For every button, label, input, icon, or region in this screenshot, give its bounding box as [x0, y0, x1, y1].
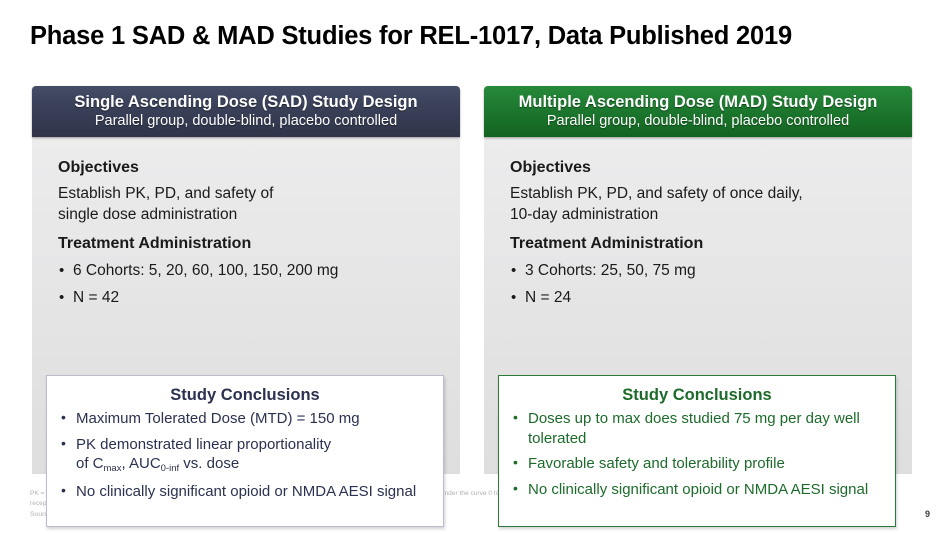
page-number: 9 [925, 509, 930, 519]
panel-sad-header-subtitle: Parallel group, double-blind, placebo co… [95, 112, 397, 130]
panel-sad-body: Objectives Establish PK, PD, and safety … [32, 137, 460, 474]
mad-objectives-text: Establish PK, PD, and safety of once dai… [510, 183, 894, 225]
sad-conclusions-title: Study Conclusions [59, 384, 431, 406]
panel-sad-header: Single Ascending Dose (SAD) Study Design… [32, 86, 460, 137]
panel-sad-header-title: Single Ascending Dose (SAD) Study Design [74, 93, 417, 112]
panel-mad-body: Objectives Establish PK, PD, and safety … [484, 137, 912, 474]
list-item: 6 Cohorts: 5, 20, 60, 100, 150, 200 mg [58, 260, 442, 281]
panel-mad-header-title: Multiple Ascending Dose (MAD) Study Desi… [519, 93, 878, 112]
panel-mad: Multiple Ascending Dose (MAD) Study Desi… [484, 86, 912, 474]
mad-objectives-section: Objectives Establish PK, PD, and safety … [510, 158, 894, 225]
list-item: N = 42 [58, 287, 442, 308]
list-item: Favorable safety and tolerability profil… [511, 454, 883, 474]
mad-conclusions-list: Doses up to max does studied 75 mg per d… [511, 409, 883, 499]
mad-treatment-list: 3 Cohorts: 25, 50, 75 mg N = 24 [510, 260, 894, 308]
mad-treatment-section: Treatment Administration 3 Cohorts: 25, … [510, 234, 894, 308]
sad-conclusions-list: Maximum Tolerated Dose (MTD) = 150 mg PK… [59, 409, 431, 501]
panel-sad: Single Ascending Dose (SAD) Study Design… [32, 86, 460, 474]
list-item: PK demonstrated linear proportionalityof… [59, 435, 431, 476]
list-item: Maximum Tolerated Dose (MTD) = 150 mg [59, 409, 431, 429]
list-item: 3 Cohorts: 25, 50, 75 mg [510, 260, 894, 281]
list-item: No clinically significant opioid or NMDA… [511, 480, 883, 500]
panel-mad-header: Multiple Ascending Dose (MAD) Study Desi… [484, 86, 912, 137]
panel-mad-header-subtitle: Parallel group, double-blind, placebo co… [547, 112, 849, 130]
mad-conclusions-title: Study Conclusions [511, 384, 883, 406]
mad-treatment-heading: Treatment Administration [510, 234, 894, 254]
list-item: Doses up to max does studied 75 mg per d… [511, 409, 883, 448]
sad-conclusions-box: Study Conclusions Maximum Tolerated Dose… [46, 375, 444, 527]
sad-objectives-section: Objectives Establish PK, PD, and safety … [58, 158, 442, 225]
sad-treatment-list: 6 Cohorts: 5, 20, 60, 100, 150, 200 mg N… [58, 260, 442, 308]
mad-objectives-heading: Objectives [510, 158, 894, 178]
page-title: Phase 1 SAD & MAD Studies for REL-1017, … [30, 22, 920, 51]
sad-treatment-heading: Treatment Administration [58, 234, 442, 254]
sad-objectives-text: Establish PK, PD, and safety ofsingle do… [58, 183, 442, 225]
list-item: No clinically significant opioid or NMDA… [59, 482, 431, 502]
sad-treatment-section: Treatment Administration 6 Cohorts: 5, 2… [58, 234, 442, 308]
list-item: N = 24 [510, 287, 894, 308]
sad-objectives-heading: Objectives [58, 158, 442, 178]
mad-conclusions-box: Study Conclusions Doses up to max does s… [498, 375, 896, 527]
